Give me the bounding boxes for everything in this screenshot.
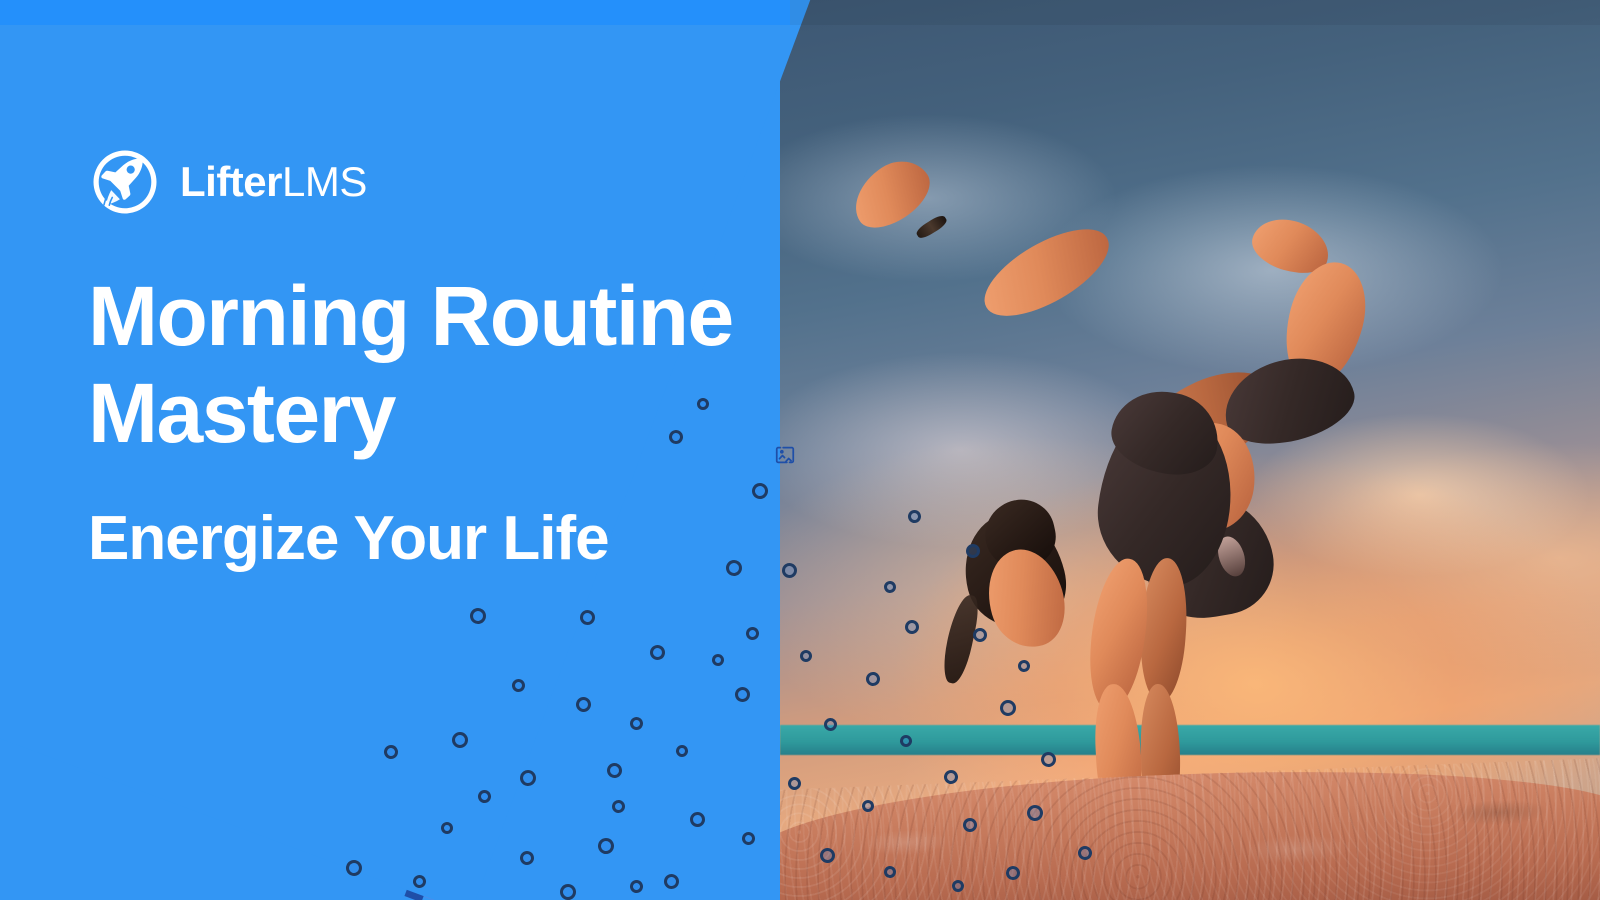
rocket-in-circle-icon xyxy=(88,145,162,219)
page-subtitle: Energize Your Life xyxy=(88,505,848,573)
figure-left-shin xyxy=(972,212,1122,332)
page-title-line-1: Morning Routine xyxy=(88,269,733,363)
figure-hair-strand xyxy=(939,592,982,685)
course-banner: LifterLMS Morning Routine Mastery Energi… xyxy=(0,0,1600,900)
brand-name-bold: Lifter xyxy=(180,158,282,205)
page-title: Morning Routine Mastery xyxy=(88,268,848,461)
brand-name-light: LMS xyxy=(282,158,367,205)
banner-content: LifterLMS Morning Routine Mastery Energi… xyxy=(0,0,820,900)
brand-logo[interactable]: LifterLMS xyxy=(88,145,367,219)
broken-image-placeholder-icon xyxy=(774,444,796,466)
page-title-line-2: Mastery xyxy=(88,366,395,460)
brand-name: LifterLMS xyxy=(180,161,367,203)
hero-photo xyxy=(780,0,1600,900)
figure-anklet xyxy=(915,213,949,240)
